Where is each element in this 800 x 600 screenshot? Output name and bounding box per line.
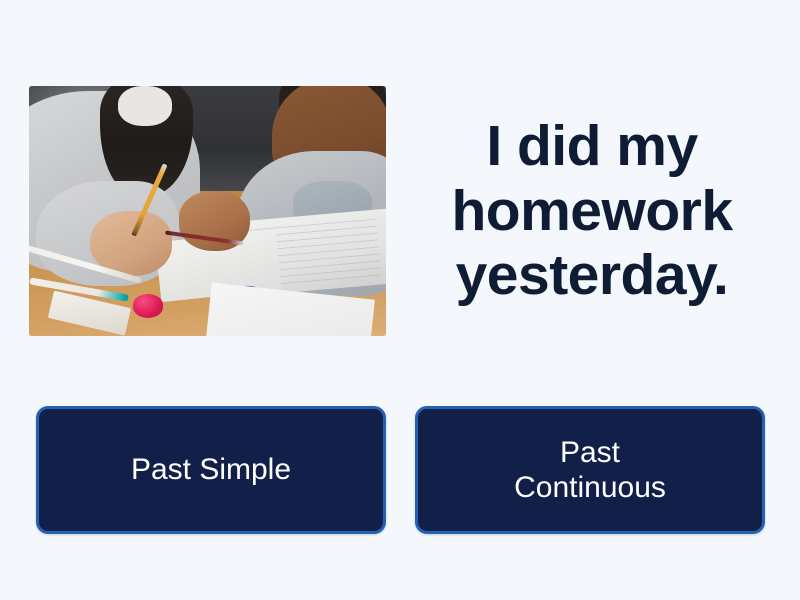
answer-button-past-simple[interactable]: Past Simple xyxy=(36,406,386,534)
answer-button-past-continuous[interactable]: Past Continuous xyxy=(415,406,765,534)
question-text: I did my homework yesterday. xyxy=(398,114,786,307)
answer-options-row: Past Simple Past Continuous xyxy=(0,406,800,534)
question-text-panel: I did my homework yesterday. xyxy=(398,86,786,336)
study-photo xyxy=(29,86,386,336)
question-image xyxy=(29,86,386,336)
question-prompt-row: I did my homework yesterday. xyxy=(0,0,800,392)
photo-pink-sharpener xyxy=(133,294,163,318)
photo-left-student-collar xyxy=(118,86,172,126)
quiz-stage: I did my homework yesterday. Past Simple… xyxy=(0,0,800,600)
